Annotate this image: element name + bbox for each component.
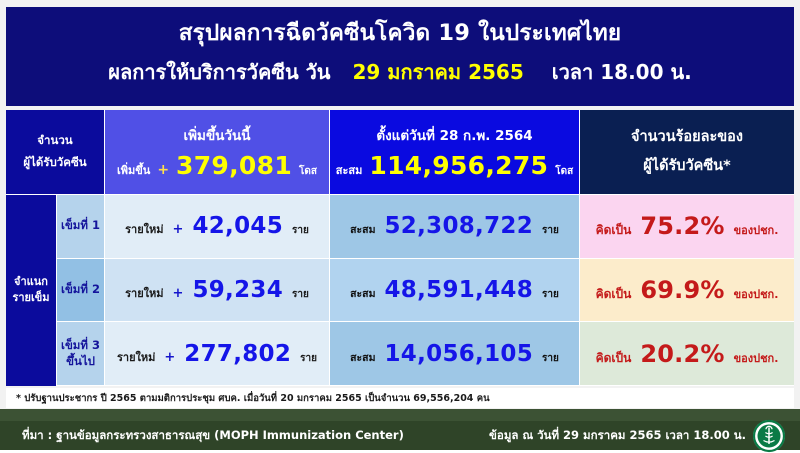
footnote: * ปรับฐานประชากร ปี 2565 ตามมติการประชุม…: [6, 388, 794, 408]
header-cumulative-value: 114,956,275: [369, 151, 548, 180]
header-percent-label-1: จำนวนร้อยละของ: [631, 123, 743, 152]
header-group-label-2: ผู้ได้รับวัคซีน: [23, 152, 86, 174]
cumulative-unit: ราย: [542, 223, 559, 238]
row-dose-label: เข็มที่ 1: [57, 195, 105, 259]
row-cumulative-cell: สะสม 14,056,105 ราย: [330, 322, 580, 386]
percent-unit: ของปชก.: [734, 349, 779, 367]
row-group-cell: [6, 322, 57, 386]
percent-value-row: คิดเป็น 20.2% ของปชก.: [580, 340, 794, 368]
percent-value-row: คิดเป็น 75.2% ของปชก.: [580, 212, 794, 240]
footer-asof: ข้อมูล ณ วันที่ 29 มกราคม 2565 เวลา 18.0…: [489, 427, 746, 445]
dose-label-line2: ขึ้นไป: [66, 354, 95, 370]
report-date: 29 มกราคม 2565: [352, 60, 523, 84]
group-label-line1: จำแนก: [14, 274, 48, 291]
title-banner: สรุปผลการฉีดวัคซีนโควิด 19 ในประเทศไทย ผ…: [6, 7, 794, 106]
cumulative-unit: ราย: [542, 287, 559, 302]
row-percent-cell: คิดเป็น 69.9% ของปชก.: [580, 259, 794, 323]
header-cumulative-cell: ตั้งแต่วันที่ 28 ก.พ. 2564 สะสม 114,956,…: [330, 110, 580, 195]
row-group-cell: [6, 195, 57, 259]
new-value-row: รายใหม่ + 277,802 ราย: [105, 341, 329, 367]
new-value: 42,045: [192, 213, 283, 239]
cumulative-label: สะสม: [350, 349, 375, 366]
row-cumulative-cell: สะสม 48,591,448 ราย: [330, 259, 580, 323]
header-percent-label-2: ผู้ได้รับวัคซีน*: [643, 152, 730, 181]
cumulative-value: 52,308,722: [385, 213, 534, 239]
report-time: เวลา 18.00 น.: [552, 60, 692, 84]
new-plus: +: [173, 286, 184, 301]
subtitle-line: ผลการให้บริการวัคซีน วัน29 มกราคม 2565เว…: [6, 47, 794, 84]
cumulative-label: สะสม: [350, 285, 375, 302]
new-plus: +: [164, 350, 175, 365]
new-value-row: รายใหม่ + 59,234 ราย: [105, 277, 329, 303]
new-unit: ราย: [292, 223, 309, 238]
header-percent-cell: จำนวนร้อยละของ ผู้ได้รับวัคซีน*: [580, 110, 794, 195]
header-new-value: 379,081: [176, 151, 292, 180]
dose-label-line1: เข็มที่ 3: [61, 338, 100, 354]
header-cumulative-label: สะสม: [336, 161, 363, 179]
footer-bar: ที่มา : ฐานข้อมูลกระทรวงสาธารณสุข (MOPH …: [0, 421, 800, 450]
header-group-label-1: จำนวน: [37, 130, 72, 152]
dose-label-line1: เข็มที่ 1: [61, 218, 100, 234]
vaccination-table: จำนวน ผู้ได้รับวัคซีน เพิ่มขึ้นวันนี้ เพ…: [6, 110, 794, 386]
cumulative-unit: ราย: [542, 351, 559, 366]
row-percent-cell: คิดเป็น 75.2% ของปชก.: [580, 195, 794, 259]
header-new-label: เพิ่มขึ้น: [117, 161, 150, 179]
table-row: จำแนก รายเข็ม เข็มที่ 2 รายใหม่ + 59,234…: [6, 259, 794, 323]
new-label: รายใหม่: [125, 284, 163, 302]
header-group-cell: จำนวน ผู้ได้รับวัคซีน: [6, 110, 105, 195]
group-label-line2: รายเข็ม: [12, 290, 49, 307]
cumulative-value-row: สะสม 52,308,722 ราย: [330, 213, 579, 239]
vaccination-summary-page: สรุปผลการฉีดวัคซีนโควิด 19 ในประเทศไทย ผ…: [0, 0, 800, 450]
header-cumulative-caption: ตั้งแต่วันที่ 28 ก.พ. 2564: [376, 124, 532, 146]
new-value: 277,802: [184, 341, 291, 367]
cumulative-label: สะสม: [350, 221, 375, 238]
header-new-plus: +: [157, 162, 169, 178]
table-row: เข็มที่ 3 ขึ้นไป รายใหม่ + 277,802 ราย ส…: [6, 322, 794, 386]
percent-label: คิดเป็น: [596, 349, 632, 368]
dose-label-line1: เข็มที่ 2: [61, 282, 100, 298]
new-label: รายใหม่: [117, 348, 155, 366]
new-value-row: รายใหม่ + 42,045 ราย: [105, 213, 329, 239]
percent-value: 20.2%: [640, 340, 724, 368]
percent-value: 75.2%: [640, 212, 724, 240]
row-dose-label: เข็มที่ 2: [57, 259, 105, 323]
header-cumulative-unit: โดส: [555, 164, 573, 179]
row-percent-cell: คิดเป็น 20.2% ของปชก.: [580, 322, 794, 386]
row-cumulative-cell: สะสม 52,308,722 ราย: [330, 195, 580, 259]
row-new-cell: รายใหม่ + 42,045 ราย: [105, 195, 330, 259]
footer-right-group: ข้อมูล ณ วันที่ 29 มกราคม 2565 เวลา 18.0…: [489, 419, 786, 453]
moph-logo: [752, 419, 786, 453]
percent-unit: ของปชก.: [734, 221, 779, 239]
new-value: 59,234: [192, 277, 283, 303]
header-new-value-row: เพิ่มขึ้น + 379,081 โดส: [117, 151, 317, 180]
percent-value-row: คิดเป็น 69.9% ของปชก.: [580, 276, 794, 304]
new-unit: ราย: [300, 351, 317, 366]
percent-unit: ของปชก.: [734, 285, 779, 303]
cumulative-value: 14,056,105: [385, 341, 534, 367]
header-new-unit: โดส: [299, 164, 317, 179]
row-group-cell: จำแนก รายเข็ม: [6, 259, 57, 323]
new-unit: ราย: [292, 287, 309, 302]
percent-label: คิดเป็น: [596, 285, 632, 304]
row-dose-label: เข็มที่ 3 ขึ้นไป: [57, 322, 105, 386]
footer-source: ที่มา : ฐานข้อมูลกระทรวงสาธารณสุข (MOPH …: [22, 427, 404, 445]
header-cumulative-value-row: สะสม 114,956,275 โดส: [336, 151, 573, 180]
page-title: สรุปผลการฉีดวัคซีนโควิด 19 ในประเทศไทย: [6, 7, 794, 47]
subtitle-prefix: ผลการให้บริการวัคซีน วัน: [108, 60, 330, 84]
percent-label: คิดเป็น: [596, 221, 632, 240]
cumulative-value-row: สะสม 48,591,448 ราย: [330, 277, 579, 303]
new-label: รายใหม่: [125, 220, 163, 238]
percent-value: 69.9%: [640, 276, 724, 304]
new-plus: +: [173, 222, 184, 237]
cumulative-value: 48,591,448: [385, 277, 534, 303]
header-new-cell: เพิ่มขึ้นวันนี้ เพิ่มขึ้น + 379,081 โดส: [105, 110, 330, 195]
header-new-caption: เพิ่มขึ้นวันนี้: [184, 124, 251, 146]
cumulative-value-row: สะสม 14,056,105 ราย: [330, 341, 579, 367]
row-new-cell: รายใหม่ + 59,234 ราย: [105, 259, 330, 323]
table-header-row: จำนวน ผู้ได้รับวัคซีน เพิ่มขึ้นวันนี้ เพ…: [6, 110, 794, 195]
table-row: เข็มที่ 1 รายใหม่ + 42,045 ราย สะสม 52,3…: [6, 195, 794, 259]
row-new-cell: รายใหม่ + 277,802 ราย: [105, 322, 330, 386]
